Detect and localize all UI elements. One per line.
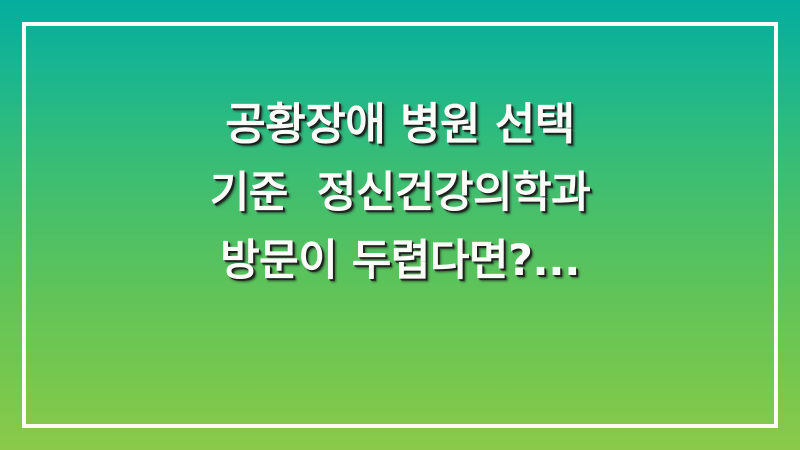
title-line-3: 방문이 두렵다면?... [220, 237, 580, 285]
title-block: 공황장애 병원 선택 기준 정신건강의학과 방문이 두렵다면?... [0, 100, 800, 286]
title-line-2: 기준 정신건강의학과 [210, 169, 590, 217]
title-line-1: 공황장애 병원 선택 [225, 100, 574, 149]
text-thumbnail-card: 공황장애 병원 선택 기준 정신건강의학과 방문이 두렵다면?... [0, 0, 800, 450]
